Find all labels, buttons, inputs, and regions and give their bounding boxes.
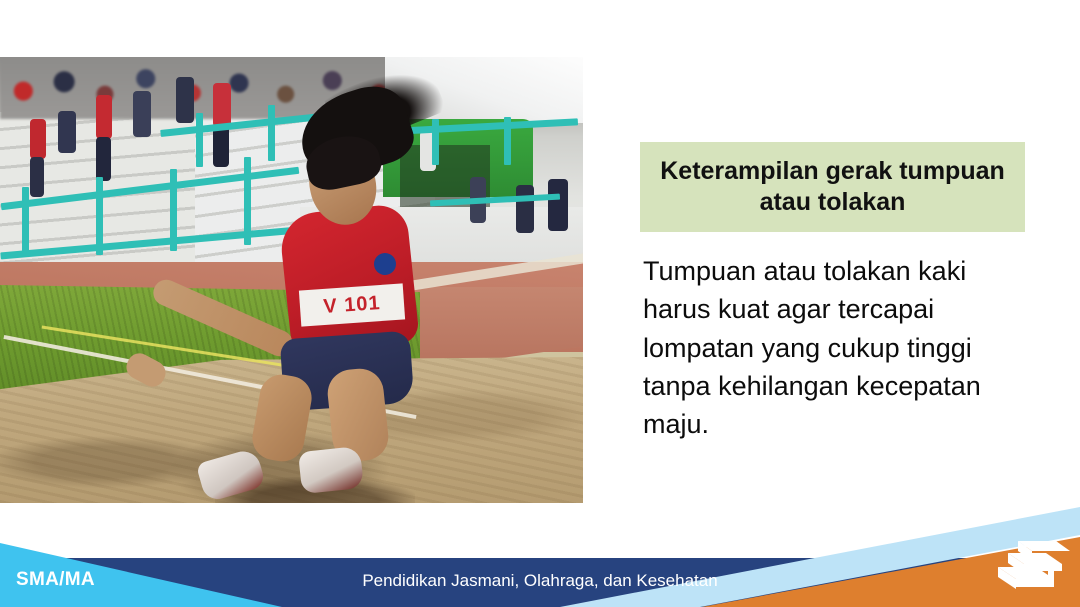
spectator-figure <box>30 119 46 159</box>
section-body-text: Tumpuan atau tolakan kaki harus kuat aga… <box>643 252 1033 444</box>
spectator-figure <box>213 83 231 127</box>
teal-railing <box>170 169 177 251</box>
teal-railing <box>22 187 29 257</box>
long-jump-photo: V 101 <box>0 57 583 503</box>
athlete-shoe-right <box>298 446 364 494</box>
spectator-figure <box>548 179 568 231</box>
teal-railing <box>504 117 511 165</box>
footer-graphics <box>0 507 1080 607</box>
spectator-figure <box>96 95 112 139</box>
slide-footer: SMA/MA Pendidikan Jasmani, Olahraga, dan… <box>0 507 1080 607</box>
teal-railing <box>196 113 203 167</box>
spectator-figure <box>96 137 111 181</box>
teal-railing <box>268 105 275 161</box>
footer-subject-label: Pendidikan Jasmani, Olahraga, dan Keseha… <box>0 571 1080 591</box>
book-mid-pages <box>1024 564 1062 571</box>
teal-railing <box>96 177 103 255</box>
section-title-box: Keterampilan gerak tumpuan atau tolakan <box>640 142 1025 232</box>
spectator-figure <box>213 125 229 167</box>
spectator-figure <box>516 185 534 233</box>
athlete-bib-number: V 101 <box>299 283 405 326</box>
teal-railing <box>244 157 251 245</box>
jersey-badge <box>374 253 396 275</box>
spectator-figure <box>30 157 44 197</box>
spectator-figure <box>176 77 194 123</box>
slide-root: V 101 Keterampilan gerak tumpuan atau to… <box>0 0 1080 607</box>
spectator-figure <box>133 91 151 137</box>
teal-railing <box>432 119 439 165</box>
spectator-figure <box>58 111 76 153</box>
section-title: Keterampilan gerak tumpuan atau tolakan <box>654 156 1011 219</box>
